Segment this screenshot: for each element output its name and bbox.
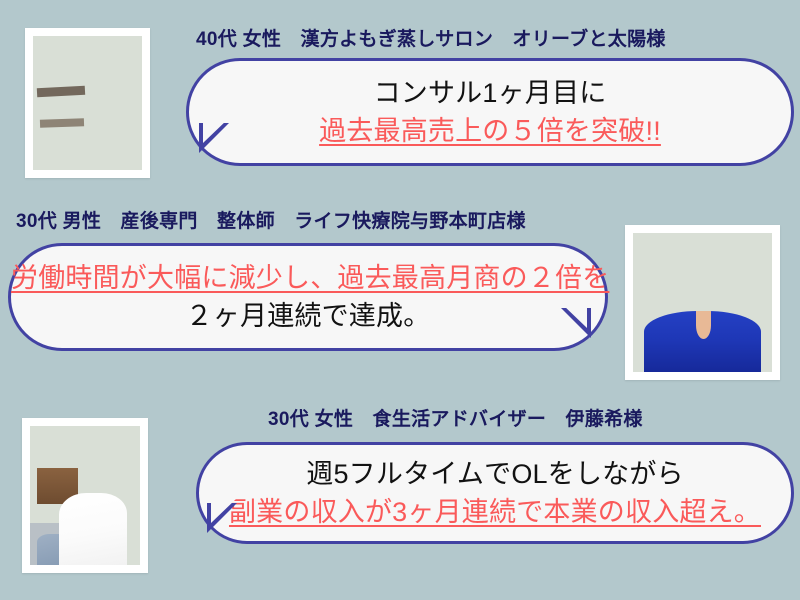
bubble-line-plain: 週5フルタイムでOLをしながら — [199, 455, 791, 493]
photo-image-woman-outdoors — [33, 36, 142, 170]
bubble-text-3: 週5フルタイムでOLをしながら 副業の収入が3ヶ月連続で本業の収入超え。 — [199, 455, 791, 532]
photo-detail-jeans — [37, 534, 85, 565]
bubble-text-2: 労働時間が大幅に減少し、過去最高月商の２倍を ２ヶ月連続で達成。 — [11, 259, 605, 336]
bubble-line-accent: 副業の収入が3ヶ月連続で本業の収入超え。 — [199, 493, 791, 531]
photo-image-man-scrubs — [633, 233, 772, 372]
bubble-line-plain: ２ヶ月連続で達成。 — [11, 297, 605, 335]
testimonials-page: 40代 女性 漢方よもぎ蒸しサロン オリーブと太陽様 コンサル1ヶ月目に 過去最… — [0, 0, 800, 600]
bubble-text-1: コンサル1ヶ月目に 過去最高売上の５倍を突破!! — [189, 74, 791, 151]
testimonial-headline-1: 40代 女性 漢方よもぎ蒸しサロン オリーブと太陽様 — [196, 30, 666, 49]
testimonial-headline-3: 30代 女性 食生活アドバイザー 伊藤希様 — [268, 410, 643, 429]
testimonial-photo-1 — [25, 28, 150, 178]
testimonial-headline-2: 30代 男性 産後専門 整体師 ライフ快療院与野本町店様 — [16, 212, 526, 231]
testimonial-photo-2 — [625, 225, 780, 380]
bubble-line-accent: 過去最高売上の５倍を突破!! — [189, 112, 791, 150]
testimonial-bubble-3: 週5フルタイムでOLをしながら 副業の収入が3ヶ月連続で本業の収入超え。 — [196, 442, 794, 544]
photo-image-woman-bedroom — [30, 426, 140, 565]
testimonial-photo-3 — [22, 418, 148, 573]
testimonial-bubble-2: 労働時間が大幅に減少し、過去最高月商の２倍を ２ヶ月連続で達成。 — [8, 243, 608, 351]
bubble-line-plain: コンサル1ヶ月目に — [189, 74, 791, 112]
bubble-line-accent: 労働時間が大幅に減少し、過去最高月商の２倍を — [11, 259, 605, 297]
testimonial-bubble-1: コンサル1ヶ月目に 過去最高売上の５倍を突破!! — [186, 58, 794, 166]
